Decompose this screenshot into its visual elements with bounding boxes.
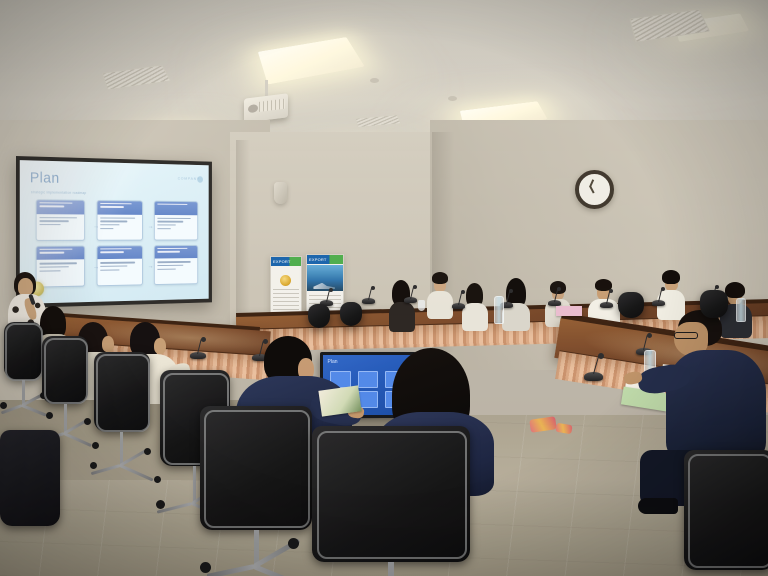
banner-seal-icon	[280, 275, 291, 286]
slide-card-header	[155, 246, 198, 259]
slide-card-body	[155, 215, 198, 235]
slide-card-body	[97, 214, 142, 234]
banner-photo	[307, 265, 343, 291]
slide-card-header	[155, 202, 198, 215]
slide-card-1	[36, 199, 85, 241]
banner-header: EXPORT	[307, 255, 343, 264]
slide-card-3	[154, 201, 198, 241]
conference-room-photo: Plan strategic implementation roadmap CO…	[0, 0, 768, 576]
hair	[432, 272, 448, 284]
smoke-detector-1	[370, 78, 379, 83]
slide-card-4	[36, 245, 85, 287]
head	[154, 338, 166, 354]
water-bottle	[494, 296, 504, 324]
torso	[427, 291, 453, 319]
paper-cup	[418, 300, 425, 311]
smoke-detector-2	[448, 96, 457, 101]
slide-card-body	[97, 259, 142, 276]
slide-brand-dot-icon	[197, 176, 203, 183]
hair	[725, 282, 745, 298]
slide-card-2	[96, 200, 142, 241]
paper-document	[556, 306, 582, 316]
slide-card-header	[37, 246, 84, 260]
slide-card-5	[96, 245, 142, 286]
slide-card-6	[154, 245, 198, 285]
slide-card-body	[37, 214, 84, 231]
wall-corner-shadow-2	[236, 140, 250, 330]
slide-title: Plan	[30, 169, 60, 186]
water-bottle	[736, 298, 746, 322]
head	[102, 336, 114, 352]
slide-arrow-3: →	[93, 264, 99, 271]
projection-screen-surface: Plan strategic implementation roadmap CO…	[20, 160, 209, 304]
slide-subtitle: strategic implementation roadmap	[31, 190, 87, 195]
monitor-card-2	[358, 371, 379, 388]
slide-card-header	[37, 200, 84, 214]
wall-speaker	[274, 182, 287, 204]
eyeglasses-icon	[674, 332, 698, 339]
torso	[389, 302, 415, 332]
torso	[462, 303, 488, 331]
shoe	[638, 498, 678, 514]
projector-vent-grille	[259, 99, 285, 112]
monitor-slide-title: Plan	[328, 359, 338, 365]
slide-card-grid	[36, 199, 198, 288]
projection-screen: Plan strategic implementation roadmap CO…	[16, 156, 212, 308]
slide-arrow-1: →	[93, 224, 99, 231]
slide-card-body	[155, 258, 198, 275]
slide-arrow-4: →	[148, 263, 154, 270]
slide-card-body	[37, 260, 84, 277]
handout-booklet	[318, 385, 361, 416]
wall-clock	[575, 170, 614, 209]
slide-arrow-2: →	[148, 224, 154, 231]
banner-header: EXPORT	[271, 257, 301, 266]
hair	[662, 270, 680, 284]
projector-pole	[265, 80, 268, 96]
slide-card-header	[97, 246, 142, 260]
slide-card-header	[97, 201, 142, 215]
projector-lens	[248, 104, 258, 113]
